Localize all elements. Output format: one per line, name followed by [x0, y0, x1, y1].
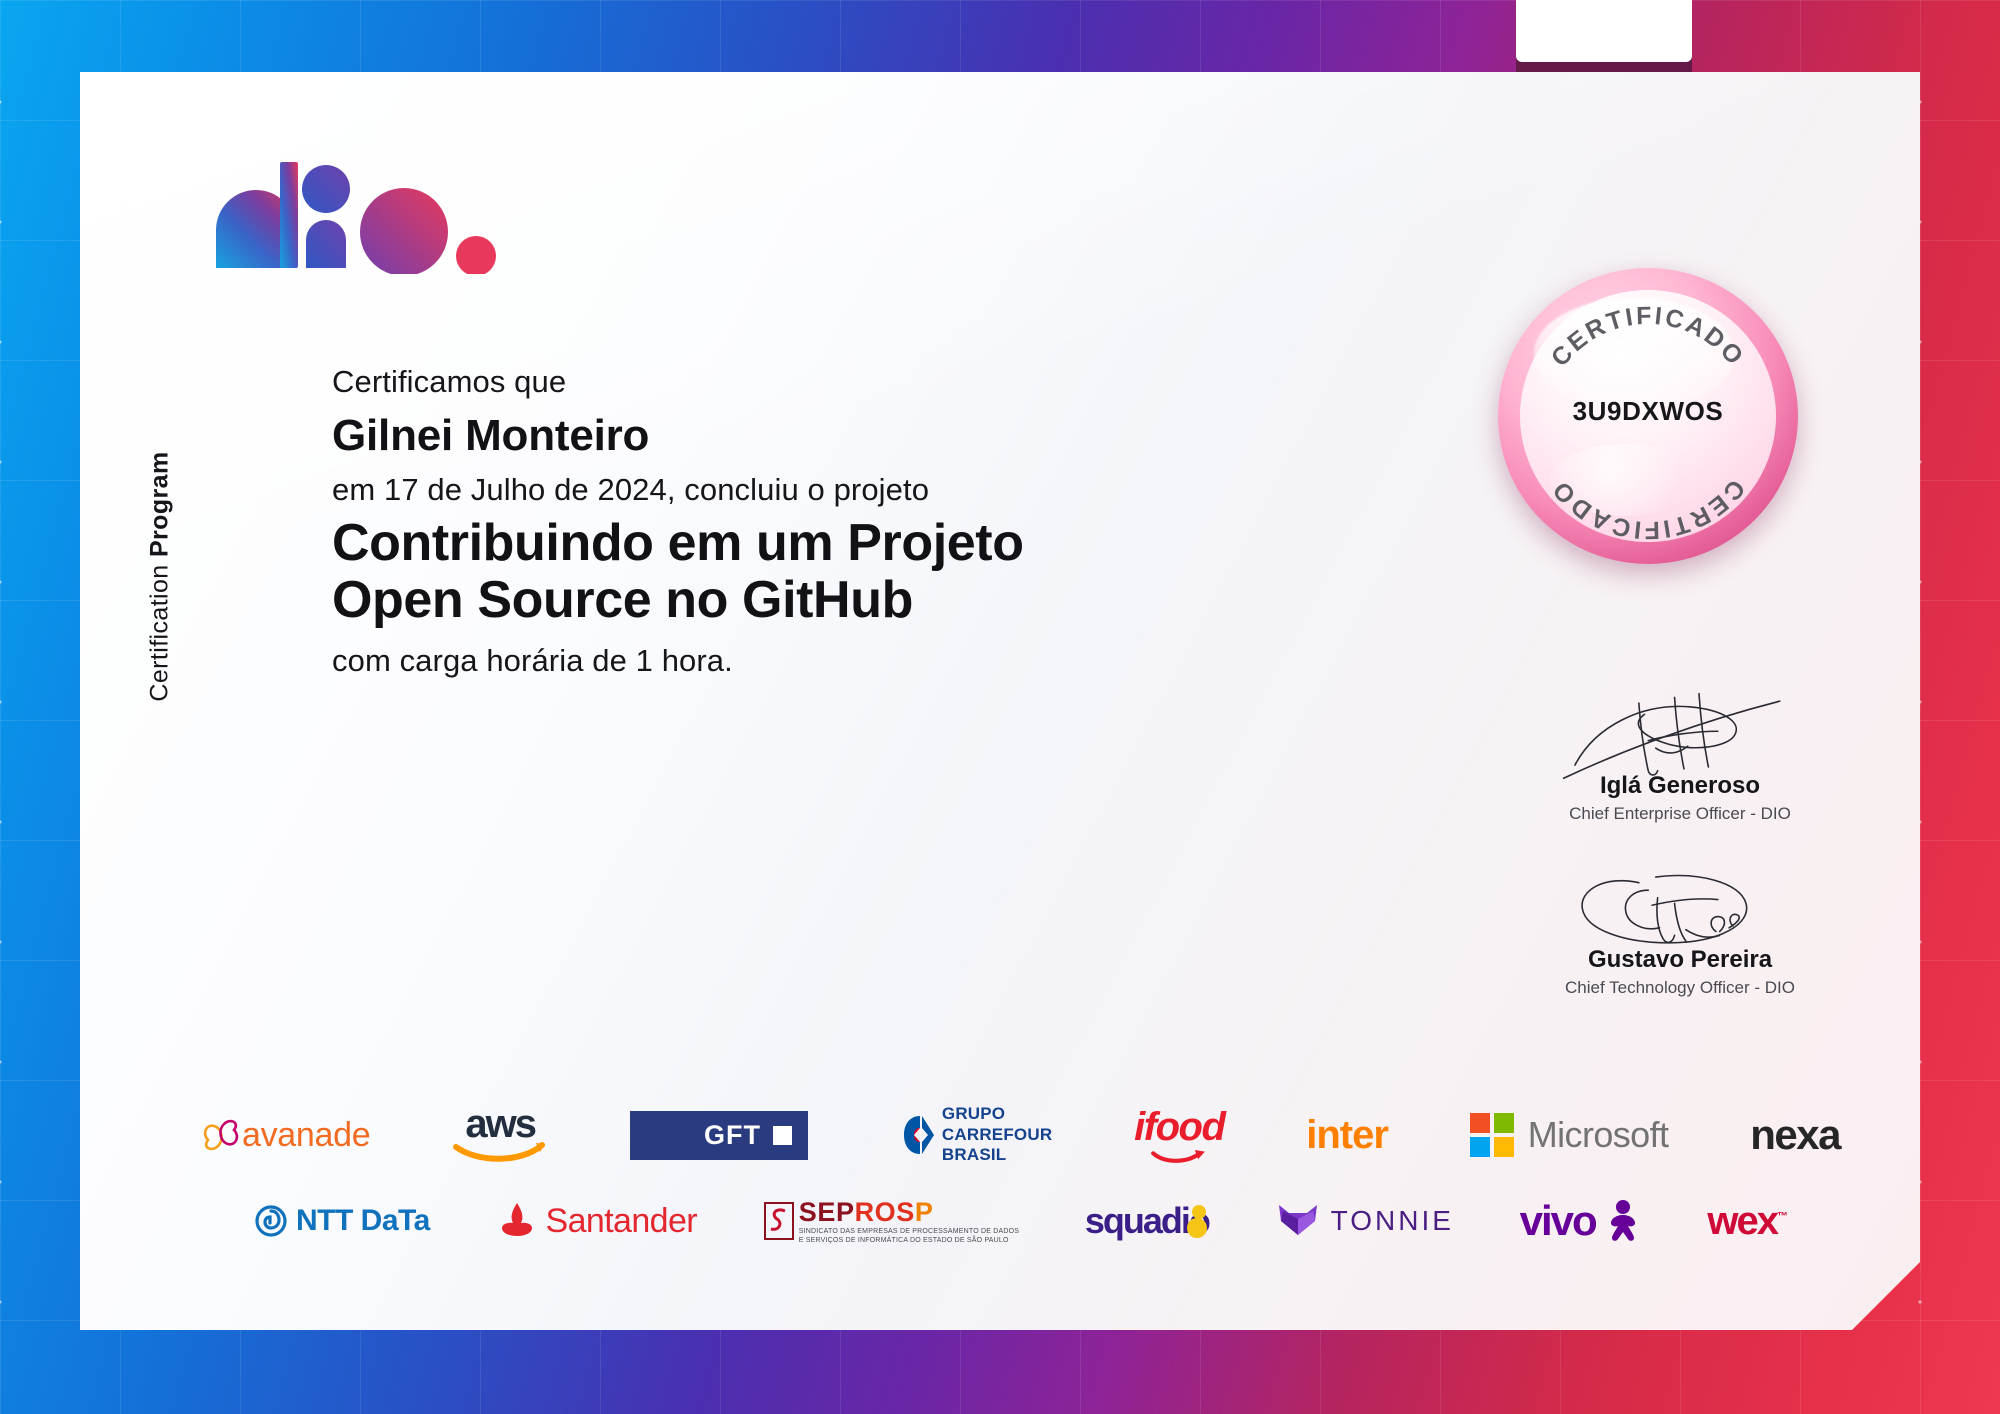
inter-wordmark: inter [1306, 1113, 1388, 1158]
signature-name-2: Gustavo Pereira [1480, 946, 1880, 974]
nexa-wordmark: nexa [1750, 1111, 1840, 1159]
partner-logo-nexa: nexa [1750, 1105, 1840, 1165]
santander-wordmark: Santander [546, 1202, 698, 1241]
partner-logo-squadio: squadio [1085, 1191, 1209, 1251]
partner-logo-row-2: NTT DaTa Santander SEPROSP [200, 1178, 1840, 1264]
partner-logo-santander: Santander [496, 1191, 698, 1251]
signature-gustavo-pereira-icon [1558, 862, 1802, 956]
certificate-canvas: Certification Program Certificamos que G… [0, 0, 2000, 1414]
ifood-swoosh-icon [1144, 1150, 1214, 1165]
seal-certificate-code: 3U9DXWOS [1498, 396, 1798, 427]
project-title-line-1: Contribuindo em um Projeto [332, 515, 1272, 572]
avanade-icon [200, 1114, 242, 1156]
seprosp-subtitle-2: E SERVIÇOS DE INFORMÁTICA DO ESTADO DE S… [799, 1237, 1019, 1246]
vertical-label-regular: Certification [146, 564, 174, 701]
squadio-dot-icon [1183, 1204, 1209, 1238]
partner-logo-gft: GFT [630, 1105, 808, 1165]
seprosp-word-1: SEP [799, 1197, 855, 1227]
seprosp-word-2: ROS [855, 1197, 915, 1227]
signature-igla-generoso-icon [1558, 688, 1802, 782]
certificate-card: Certification Program Certificamos que G… [80, 72, 1920, 1330]
signature-block-2: Gustavo Pereira Chief Technology Officer… [1480, 862, 1880, 998]
signature-role-2: Chief Technology Officer - DIO [1480, 978, 1880, 998]
carrefour-wordmark: GRUPO CARREFOUR BRASIL [942, 1104, 1052, 1166]
seprosp-text-group: SEPROSP SINDICATO DAS EMPRESAS DE PROCES… [799, 1197, 1019, 1246]
signature-role-1: Chief Enterprise Officer - DIO [1480, 804, 1880, 824]
project-title-line-2: Open Source no GitHub [332, 572, 1272, 629]
partner-logo-row-1: avanade aws GFT [200, 1092, 1840, 1178]
partner-logo-aws: aws [452, 1105, 548, 1165]
completion-date: em 17 de Julho de 2024, concluiu o proje… [332, 470, 1272, 511]
ribbon-top-tab [1516, 0, 1692, 62]
workload-line: com carga horária de 1 hora. [332, 643, 1272, 679]
santander-flame-icon [496, 1201, 538, 1241]
partner-logo-vivo: vivo [1520, 1191, 1642, 1251]
vertical-label-bold: Program [146, 451, 174, 557]
tonnie-fox-icon [1275, 1201, 1321, 1241]
recipient-name: Gilnei Monteiro [332, 407, 1272, 464]
carrefour-icon [890, 1110, 942, 1160]
ntt-data-icon [254, 1204, 288, 1238]
vivo-person-icon [1604, 1199, 1642, 1243]
intro-line: Certificamos que [332, 362, 1272, 403]
avanade-wordmark: avanade [242, 1116, 370, 1155]
certificate-seal: CERTIFICADO CERTIFICADO 3U9DXWOS [1498, 268, 1798, 564]
gft-wordmark-box: GFT [630, 1111, 808, 1160]
microsoft-wordmark: Microsoft [1528, 1114, 1669, 1156]
dio-logo [208, 144, 508, 274]
carrefour-line-3: BRASIL [942, 1145, 1052, 1166]
partner-logo-seprosp: SEPROSP SINDICATO DAS EMPRESAS DE PROCES… [763, 1191, 1019, 1251]
seprosp-wordmark: SEPROSP [799, 1197, 1019, 1228]
carrefour-line-1: GRUPO [942, 1104, 1052, 1125]
signature-block-1: Iglá Generoso Chief Enterprise Officer -… [1480, 688, 1880, 824]
seal-arc-bottom-text: CERTIFICADO [1546, 474, 1751, 544]
gft-square-icon [773, 1126, 792, 1145]
seprosp-word-3: P [915, 1197, 934, 1227]
partner-logo-carrefour: GRUPO CARREFOUR BRASIL [890, 1105, 1052, 1165]
seprosp-icon [763, 1201, 795, 1241]
carrefour-line-2: CARREFOUR [942, 1125, 1052, 1146]
ifood-wordmark: ifood [1134, 1105, 1224, 1150]
partner-logo-avanade: avanade [200, 1105, 370, 1165]
signature-name-1: Iglá Generoso [1480, 772, 1880, 800]
partner-logo-tonnie: TONNIE [1275, 1191, 1454, 1251]
wex-trademark: ™ [1777, 1210, 1786, 1222]
wex-wordmark: wex™ [1707, 1199, 1786, 1244]
seal-arc-top-text: CERTIFICADO [1546, 302, 1751, 372]
aws-smile-icon [452, 1141, 548, 1163]
wex-word: wex [1707, 1199, 1777, 1243]
vivo-wordmark: vivo [1520, 1197, 1596, 1245]
dio-logo-icon [208, 144, 508, 274]
partner-logo-ifood: ifood [1134, 1105, 1224, 1165]
partner-logo-microsoft: Microsoft [1470, 1105, 1669, 1165]
ntt-data-wordmark: NTT DaTa [296, 1204, 430, 1238]
partner-logo-wex: wex™ [1707, 1191, 1786, 1251]
seprosp-subtitle-1: SINDICATO DAS EMPRESAS DE PROCESSAMENTO … [799, 1228, 1019, 1237]
microsoft-squares-icon [1470, 1113, 1514, 1157]
aws-wordmark: aws [465, 1107, 535, 1141]
certificate-body: Certificamos que Gilnei Monteiro em 17 d… [332, 362, 1272, 679]
partner-logo-inter: inter [1306, 1105, 1388, 1165]
gft-wordmark: GFT [704, 1120, 761, 1151]
partner-logos: avanade aws GFT [200, 1092, 1840, 1264]
tonnie-wordmark: TONNIE [1331, 1205, 1454, 1237]
partner-logo-ntt-data: NTT DaTa [254, 1191, 430, 1251]
certification-program-vertical-label: Certification Program [146, 427, 175, 727]
